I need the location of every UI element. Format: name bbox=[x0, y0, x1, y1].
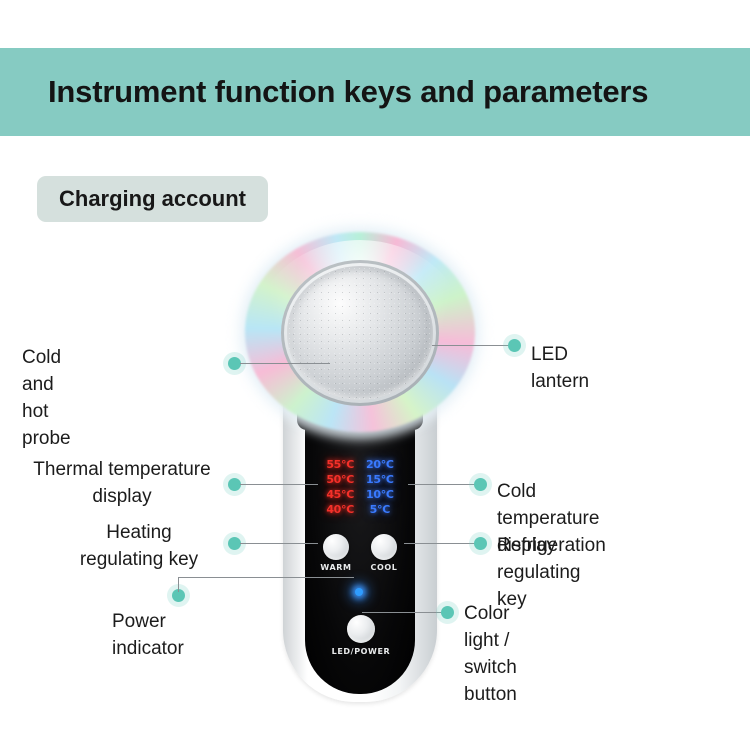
temp-hot-value: 50°C bbox=[326, 473, 354, 487]
callout-marker-dot bbox=[474, 478, 487, 491]
callout-leader-line-vertical bbox=[178, 578, 179, 592]
callout-label: Color light / switch button bbox=[464, 600, 517, 708]
temperature-display: 55°C 50°C 45°C 40°C 20°C 15°C 10°C 5°C bbox=[315, 458, 405, 517]
warm-button[interactable] bbox=[323, 534, 349, 560]
temp-hot-value: 55°C bbox=[326, 458, 354, 472]
callout-label: Thermal temperature display bbox=[22, 456, 222, 510]
section-chip: Charging account bbox=[37, 176, 268, 222]
callout-leader-line bbox=[240, 543, 318, 544]
callout-leader-line bbox=[240, 363, 330, 364]
temp-cold-value: 5°C bbox=[366, 503, 394, 517]
temp-hot-value: 40°C bbox=[326, 503, 354, 517]
device-illustration: 55°C 50°C 45°C 40°C 20°C 15°C 10°C 5°C W… bbox=[245, 232, 475, 707]
callout-leader-line bbox=[408, 484, 480, 485]
callout-label: LED lantern bbox=[531, 341, 589, 395]
power-indicator-led bbox=[355, 588, 363, 596]
header-banner: Instrument function keys and parameters bbox=[0, 48, 750, 136]
page-title: Instrument function keys and parameters bbox=[48, 74, 648, 110]
callout-leader-line bbox=[178, 577, 354, 578]
cold-temperature-column: 20°C 15°C 10°C 5°C bbox=[366, 458, 394, 517]
callout-leader-line bbox=[404, 543, 480, 544]
temp-cold-value: 10°C bbox=[366, 488, 394, 502]
callout-leader-line bbox=[432, 345, 512, 346]
thermal-temperature-column: 55°C 50°C 45°C 40°C bbox=[326, 458, 354, 517]
callout-marker-dot bbox=[508, 339, 521, 352]
led-power-button-label: LED/POWER bbox=[324, 647, 398, 656]
cool-button-label: COOL bbox=[357, 563, 411, 572]
temp-cold-value: 15°C bbox=[366, 473, 394, 487]
callout-marker-dot bbox=[441, 606, 454, 619]
led-power-button[interactable] bbox=[347, 615, 375, 643]
page-root: Instrument function keys and parameters … bbox=[0, 0, 750, 750]
section-chip-label: Charging account bbox=[59, 186, 246, 212]
cool-button[interactable] bbox=[371, 534, 397, 560]
temp-hot-value: 45°C bbox=[326, 488, 354, 502]
callout-leader-line bbox=[240, 484, 318, 485]
callout-marker-dot bbox=[474, 537, 487, 550]
probe-texture bbox=[287, 266, 433, 400]
callout-label: Power indicator bbox=[112, 608, 184, 662]
temp-cold-value: 20°C bbox=[366, 458, 394, 472]
callout-leader-line bbox=[362, 612, 448, 613]
warm-button-label: WARM bbox=[309, 563, 363, 572]
cold-hot-probe bbox=[287, 266, 433, 400]
callout-label: Cold and hot probe bbox=[22, 344, 71, 452]
callout-label: Heating regulating key bbox=[56, 519, 222, 573]
